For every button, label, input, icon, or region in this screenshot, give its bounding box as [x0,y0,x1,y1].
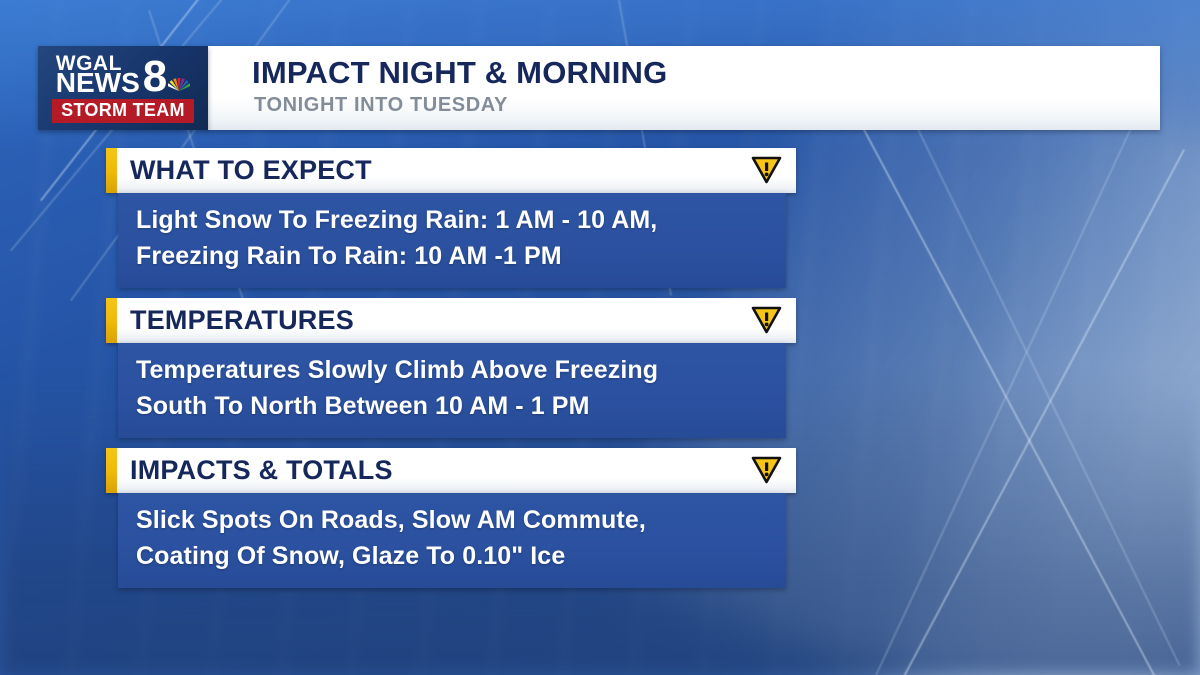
section-body-line: South To North Between 10 AM - 1 PM [136,389,768,425]
logo-news-word: NEWS [56,71,140,95]
section-body-line: Temperatures Slowly Climb Above Freezing [136,353,768,389]
weather-graphic-stage: WGAL NEWS 8 [0,0,1200,675]
page-title: IMPACT NIGHT & MORNING [252,55,667,91]
section-body-line: Light Snow To Freezing Rain: 1 AM - 10 A… [136,203,768,239]
section-header: IMPACTS & TOTALS [106,448,796,493]
logo-storm-team-banner: STORM TEAM [52,99,194,123]
section-title: IMPACTS & TOTALS [130,455,393,486]
warning-triangle-icon [751,305,782,334]
warning-triangle-icon [751,455,782,484]
section-body-line: Slick Spots On Roads, Slow AM Commute, [136,503,768,539]
station-logo: WGAL NEWS 8 [38,46,208,130]
section-accent-bar [106,148,117,193]
section-body: Temperatures Slowly Climb Above Freezing… [118,343,786,438]
section-body-line: Coating Of Snow, Glaze To 0.10" Ice [136,539,768,575]
section-accent-bar [106,448,117,493]
section-header: TEMPERATURES [106,298,796,343]
section-what-to-expect: WHAT TO EXPECT Light Snow To Freezing Ra… [106,148,796,288]
section-title: WHAT TO EXPECT [130,155,372,186]
section-impacts-and-totals: IMPACTS & TOTALS Slick Spots On Roads, S… [106,448,796,588]
section-temperatures: TEMPERATURES Temperatures Slowly Climb A… [106,298,796,438]
nbc-peacock-icon [168,74,190,94]
section-body-line: Freezing Rain To Rain: 10 AM -1 PM [136,239,768,275]
section-body: Slick Spots On Roads, Slow AM Commute, C… [118,493,786,588]
section-body: Light Snow To Freezing Rain: 1 AM - 10 A… [118,193,786,288]
section-title: TEMPERATURES [130,305,354,336]
header-bar: WGAL NEWS 8 [38,46,1160,130]
section-header: WHAT TO EXPECT [106,148,796,193]
section-accent-bar [106,298,117,343]
page-subtitle: TONIGHT INTO TUESDAY [254,94,508,117]
logo-channel-number: 8 [143,59,167,95]
warning-triangle-icon [751,155,782,184]
